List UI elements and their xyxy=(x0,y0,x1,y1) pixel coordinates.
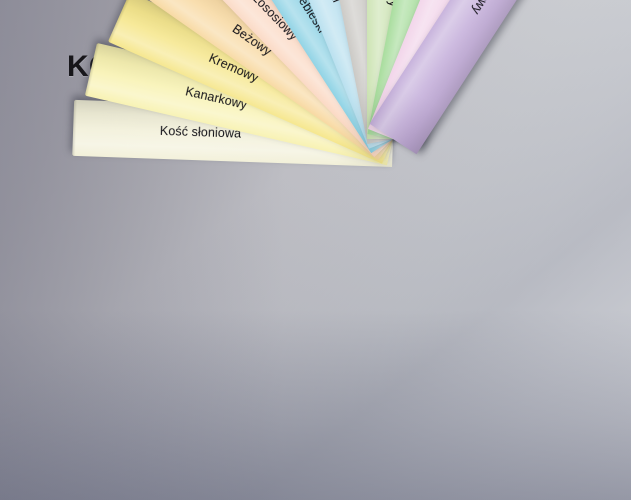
pastel-colors-poster: KOLORY PASTELOWE Kość słoniowaKanarkowyK… xyxy=(0,0,631,500)
color-fan: Kość słoniowaKanarkowyKremowyBeżowyŁosos… xyxy=(0,0,631,500)
